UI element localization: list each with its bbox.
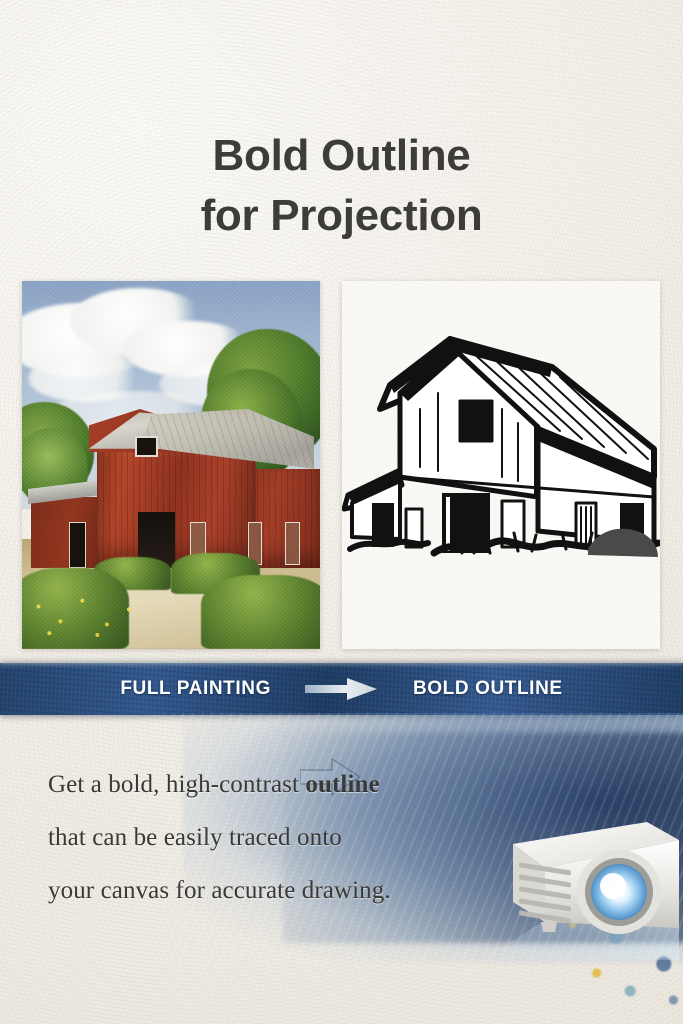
description-line-1-plain: Get a bold, high-contrast xyxy=(48,771,305,798)
barn-painting-artwork xyxy=(22,281,320,649)
title-line-2: for Projection xyxy=(0,186,683,246)
comparison-panels xyxy=(0,281,683,649)
description-line-3: your canvas for accurate drawing. xyxy=(48,864,518,917)
description-text: Get a bold, high-contrast outline that c… xyxy=(48,758,518,917)
panel-bold-outline[interactable] xyxy=(342,281,660,649)
barn-side-door xyxy=(69,522,86,568)
description-line-1-emphasis: outline xyxy=(305,771,379,798)
comparison-banner: FULL PAINTING BOLD OUTLINE xyxy=(0,663,683,715)
barn-outline-svg xyxy=(342,281,660,649)
grass-clump xyxy=(201,575,320,649)
banner-arrow-icon xyxy=(305,678,379,700)
description-line-2: that can be easily traced onto xyxy=(48,811,518,864)
barn-outline-artwork xyxy=(342,281,660,649)
barn-side-door xyxy=(285,522,299,565)
banner-label-left: FULL PAINTING xyxy=(120,678,271,700)
title-line-1: Bold Outline xyxy=(0,126,683,186)
banner-label-right: BOLD OUTLINE xyxy=(413,678,563,700)
description-line-1: Get a bold, high-contrast outline xyxy=(48,758,518,811)
panel-full-painting[interactable] xyxy=(22,281,320,649)
barn xyxy=(31,402,320,568)
wildflowers xyxy=(22,583,159,642)
barn-main-wall xyxy=(97,442,256,568)
barn-loft-window xyxy=(135,436,158,458)
poster-page: Bold Outline for Projection xyxy=(0,0,683,1024)
page-title: Bold Outline for Projection xyxy=(0,126,683,246)
